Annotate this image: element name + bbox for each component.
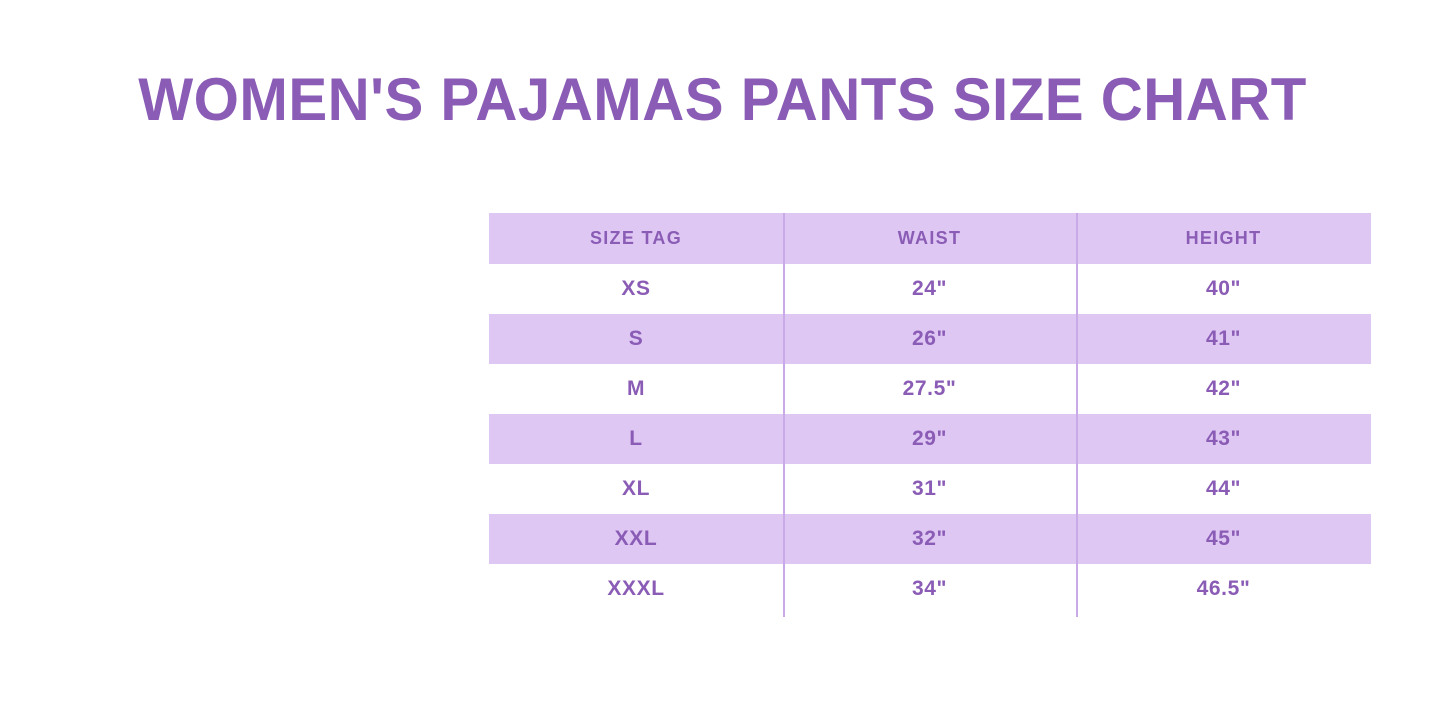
table-row: M 27.5" 42" xyxy=(489,364,1371,414)
cell-height: 45" xyxy=(1076,514,1371,564)
size-chart-table: SIZE TAG WAIST HEIGHT XS 24" 40" S 26" 4… xyxy=(489,213,1371,614)
cell-waist: 34" xyxy=(783,564,1076,614)
size-chart-page: WOMEN'S PAJAMAS PANTS SIZE CHART SIZE TA… xyxy=(0,0,1445,723)
column-header-height: HEIGHT xyxy=(1076,213,1371,264)
table-row: L 29" 43" xyxy=(489,414,1371,464)
cell-size-tag: M xyxy=(489,364,783,414)
table-body: XS 24" 40" S 26" 41" M 27.5" 42" L 29" xyxy=(489,264,1371,614)
table-row: XL 31" 44" xyxy=(489,464,1371,514)
cell-height: 42" xyxy=(1076,364,1371,414)
cell-height: 44" xyxy=(1076,464,1371,514)
table-row: S 26" 41" xyxy=(489,314,1371,364)
cell-waist: 32" xyxy=(783,514,1076,564)
column-divider-1 xyxy=(783,213,785,617)
column-header-size-tag: SIZE TAG xyxy=(489,213,783,264)
cell-size-tag: XL xyxy=(489,464,783,514)
table-row: XXL 32" 45" xyxy=(489,514,1371,564)
column-divider-2 xyxy=(1076,213,1078,617)
cell-height: 40" xyxy=(1076,264,1371,314)
cell-waist: 24" xyxy=(783,264,1076,314)
cell-waist: 31" xyxy=(783,464,1076,514)
cell-size-tag: XS xyxy=(489,264,783,314)
column-header-waist: WAIST xyxy=(783,213,1076,264)
table-row: XXXL 34" 46.5" xyxy=(489,564,1371,614)
cell-size-tag: XXL xyxy=(489,514,783,564)
size-chart-table-container: SIZE TAG WAIST HEIGHT XS 24" 40" S 26" 4… xyxy=(489,213,1371,614)
page-title: WOMEN'S PAJAMAS PANTS SIZE CHART xyxy=(22,64,1424,136)
cell-waist: 26" xyxy=(783,314,1076,364)
cell-waist: 27.5" xyxy=(783,364,1076,414)
cell-waist: 29" xyxy=(783,414,1076,464)
cell-size-tag: S xyxy=(489,314,783,364)
cell-height: 43" xyxy=(1076,414,1371,464)
cell-height: 46.5" xyxy=(1076,564,1371,614)
cell-size-tag: L xyxy=(489,414,783,464)
cell-size-tag: XXXL xyxy=(489,564,783,614)
table-header-row: SIZE TAG WAIST HEIGHT xyxy=(489,213,1371,264)
table-row: XS 24" 40" xyxy=(489,264,1371,314)
cell-height: 41" xyxy=(1076,314,1371,364)
